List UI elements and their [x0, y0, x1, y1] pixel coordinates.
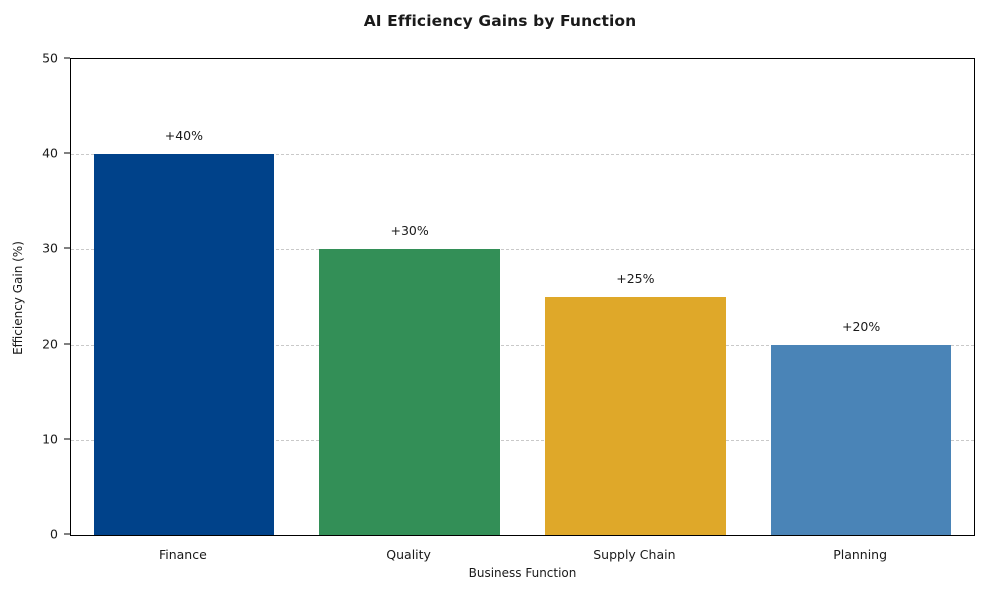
- bar-group: +25%: [545, 59, 726, 535]
- bar: [319, 249, 500, 535]
- y-tick-label: 30: [42, 241, 58, 256]
- y-tick-label: 0: [50, 527, 58, 542]
- bar-group: +20%: [771, 59, 952, 535]
- x-axis-label: Business Function: [70, 566, 975, 580]
- chart-title: AI Efficiency Gains by Function: [0, 12, 1000, 30]
- y-tick-label: 20: [42, 336, 58, 351]
- bar-value-label: +40%: [94, 128, 275, 143]
- y-axis-label: Efficiency Gain (%): [11, 88, 25, 508]
- bar: [545, 297, 726, 535]
- bar: [94, 154, 275, 535]
- bar-series: +40%+30%+25%+20%: [71, 59, 974, 535]
- plot-area: +40%+30%+25%+20%: [70, 58, 975, 536]
- y-axis: Efficiency Gain (%) 01020304050: [0, 58, 70, 536]
- bar-value-label: +20%: [771, 319, 952, 334]
- x-tick-label: Supply Chain: [593, 547, 675, 562]
- y-tick-label: 10: [42, 431, 58, 446]
- chart-figure: AI Efficiency Gains by Function Efficien…: [0, 0, 1000, 600]
- bar-value-label: +30%: [319, 223, 500, 238]
- bar-value-label: +25%: [545, 271, 726, 286]
- x-tick-label: Quality: [386, 547, 431, 562]
- bar-group: +30%: [319, 59, 500, 535]
- bar: [771, 345, 952, 535]
- y-tick-label: 40: [42, 146, 58, 161]
- x-tick-label: Planning: [833, 547, 887, 562]
- bar-group: +40%: [94, 59, 275, 535]
- y-tick-label: 50: [42, 51, 58, 66]
- x-tick-label: Finance: [159, 547, 207, 562]
